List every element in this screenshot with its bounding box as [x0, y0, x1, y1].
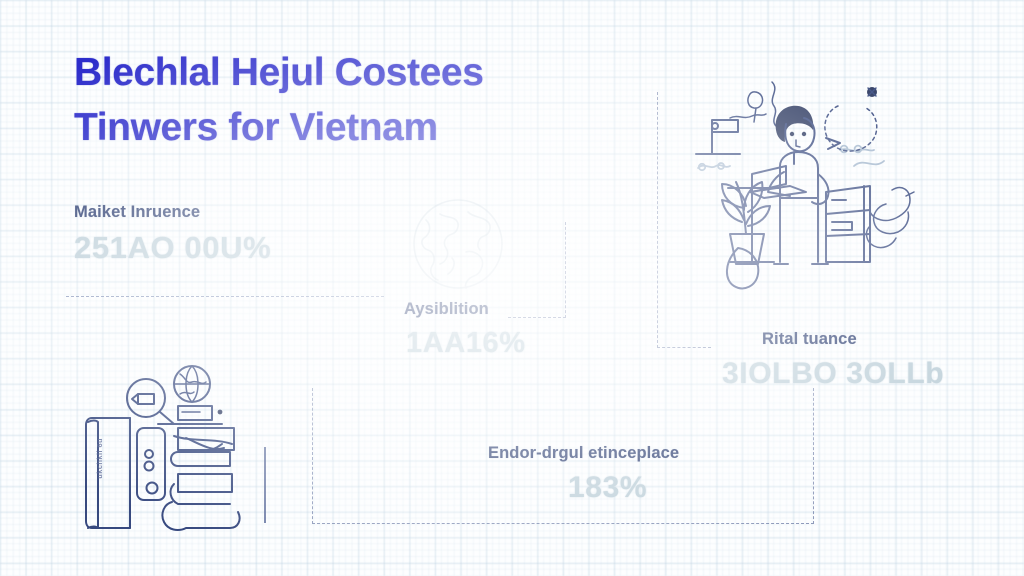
note-card [178, 406, 222, 420]
potted-plant [722, 182, 770, 264]
doodle-bird [867, 188, 914, 248]
stat-label-rital-tuance: Rital tuance [762, 330, 944, 349]
book-spine-text: ukchkli 6u [95, 438, 104, 479]
globe-icon [174, 366, 210, 402]
stat-block-rital-tuance: Rital tuance 3IOLBO 3OLLb [762, 330, 944, 391]
stat-block-endor-drgul-etinceplace: Endor-drgul etinceplace 183% [488, 444, 679, 505]
world-map-globe-watermark [396, 192, 520, 304]
infographic-canvas: Blechlal Hejul Costees Tinwers for Vietn… [0, 0, 1024, 576]
stat-value-endor-drgul-etinceplace: 183% [568, 471, 679, 505]
closed-book [86, 418, 130, 528]
stat-value-rital-tuance: 3IOLBO 3OLLb [722, 357, 944, 391]
books-research-illustration: ukchkli 6u [74, 362, 270, 540]
page-title-line-2: Tinwers for Vietnam [74, 100, 634, 155]
book-stack [162, 428, 239, 530]
stat-block-aysiblition: Aysiblition 1AA16% [404, 300, 526, 360]
device-panel [137, 428, 165, 500]
stat-block-market-influence: Maiket Inruence 251AO 00U% [74, 203, 271, 266]
stat-value-aysiblition: 1AA16% [406, 327, 526, 360]
doodle-easel-sign [696, 120, 740, 154]
stat-label-aysiblition: Aysiblition [404, 300, 526, 319]
page-title: Blechlal Hejul Costees Tinwers for Vietn… [74, 45, 634, 156]
desk-scene-illustration [668, 62, 926, 290]
stat-label-endor-drgul-etinceplace: Endor-drgul etinceplace [488, 444, 679, 463]
magnifying-glass-icon [127, 379, 174, 424]
doodle-dotted-arc [825, 87, 877, 151]
stat-label-market-influence: Maiket Inruence [74, 203, 271, 222]
doodle-leaf [727, 248, 758, 288]
person [768, 106, 829, 264]
shelf-unit [826, 186, 870, 262]
divider-under-market-stat [66, 296, 384, 297]
page-title-line-1: Blechlal Hejul Costees [74, 51, 484, 94]
stat-value-market-influence: 251AO 00U% [74, 230, 271, 266]
